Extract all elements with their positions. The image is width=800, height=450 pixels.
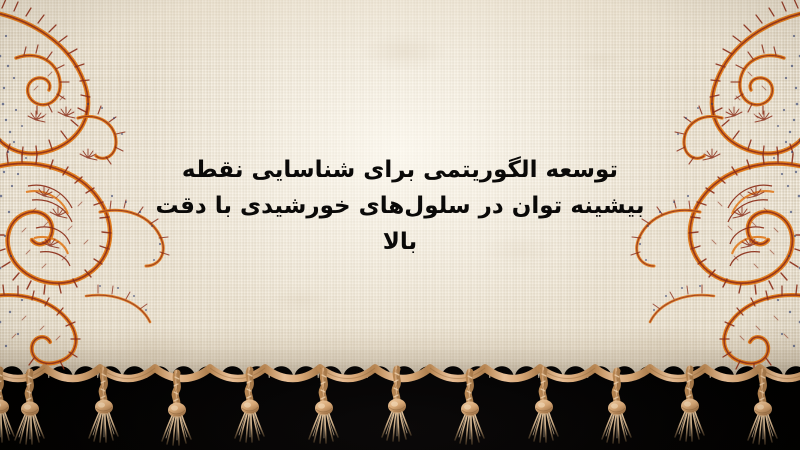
title-line-3: بالا <box>0 224 800 260</box>
slide-title: توسعه الگوریتمی برای شناسایی نقطه بیشینه… <box>0 152 800 260</box>
tassel-fringe <box>0 352 800 450</box>
tassel <box>455 372 484 444</box>
tassel <box>748 372 777 444</box>
title-line-2: بیشینه توان در سلول‌های خورشیدی با دقت <box>0 188 800 224</box>
tassel <box>89 370 118 442</box>
slide-canvas: توسعه الگوریتمی برای شناسایی نقطه بیشینه… <box>0 0 800 450</box>
tassel <box>162 373 191 445</box>
tassel <box>309 371 338 443</box>
title-line-1: توسعه الگوریتمی برای شناسایی نقطه <box>0 152 800 188</box>
tassel <box>15 372 44 444</box>
tassel <box>529 370 558 442</box>
